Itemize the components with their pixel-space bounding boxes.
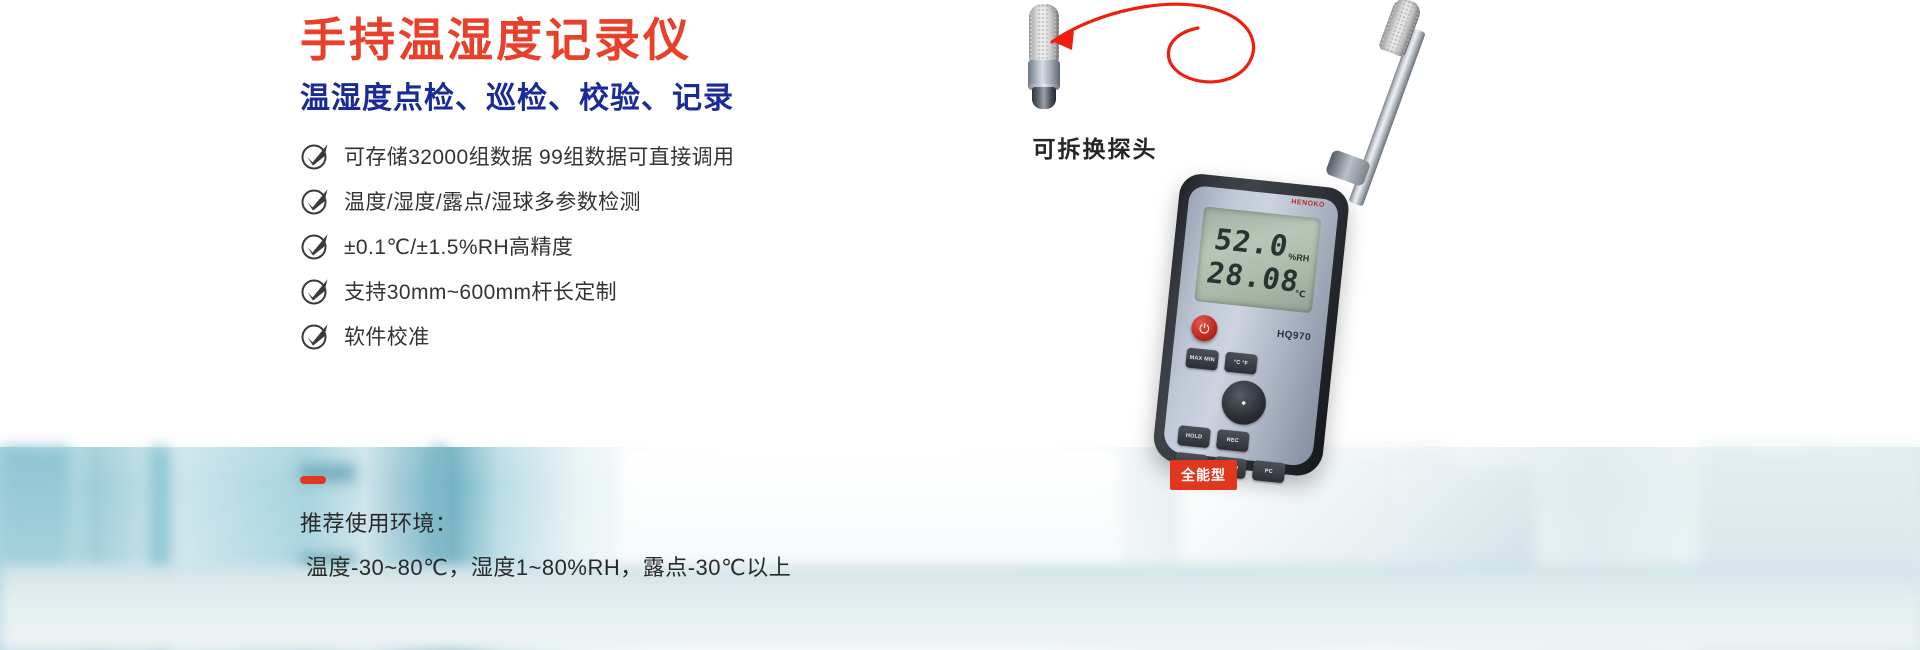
recommendation-block: 推荐使用环境： 温度-30~80℃，湿度1~80%RH，露点-30℃以上 — [300, 476, 1200, 582]
feature-text: 支持30mm~600mm杆长定制 — [344, 276, 617, 306]
key-pc[interactable]: PC — [1252, 460, 1286, 483]
meter-front-panel: 52.0 %RH 28.08 ℃ HENOKO ⏻ HQ970 MAX MIN … — [1162, 185, 1339, 467]
meter-body: 52.0 %RH 28.08 ℃ HENOKO ⏻ HQ970 MAX MIN … — [1151, 172, 1350, 478]
power-button[interactable]: ⏻ — [1190, 314, 1219, 343]
check-circle-icon — [300, 141, 330, 171]
key-max-min[interactable]: MAX MIN — [1185, 347, 1219, 370]
key-rec[interactable]: REC — [1216, 429, 1250, 452]
brand-logo: HENOKO — [1291, 199, 1325, 209]
humidity-unit: %RH — [1288, 252, 1310, 264]
feature-text: ±0.1℃/±1.5%RH高精度 — [344, 231, 573, 261]
key-hold[interactable]: HOLD — [1177, 425, 1211, 448]
page-subtitle: 温湿度点检、巡检、校验、记录 — [300, 80, 734, 118]
check-circle-icon — [300, 231, 330, 261]
feature-text: 软件校准 — [344, 321, 430, 351]
status-badge: 全能型 — [1170, 460, 1237, 490]
product-banner: 手持温湿度记录仪 温湿度点检、巡检、校验、记录 可存储32000组数据 99组数… — [0, 0, 1920, 650]
recommendation-detail: 温度-30~80℃，湿度1~80%RH，露点-30℃以上 — [300, 550, 1200, 582]
keypad-row: ◆ — [1180, 374, 1308, 431]
key-unit[interactable]: °C °F — [1224, 352, 1258, 375]
model-label: HQ970 — [1276, 329, 1311, 344]
temperature-reading: 28.08 — [1204, 255, 1302, 298]
feature-text: 可存储32000组数据 99组数据可直接调用 — [344, 141, 734, 171]
check-circle-icon — [300, 186, 330, 216]
navigation-dpad[interactable]: ◆ — [1220, 378, 1268, 426]
feature-text: 温度/湿度/露点/湿球多参数检测 — [344, 186, 641, 216]
check-circle-icon — [300, 321, 330, 351]
recommendation-heading: 推荐使用环境： — [300, 506, 1200, 538]
check-circle-icon — [300, 276, 330, 306]
lcd-display: 52.0 %RH 28.08 ℃ — [1194, 206, 1321, 313]
page-title: 手持温湿度记录仪 — [300, 11, 692, 69]
red-dash-divider — [300, 476, 326, 484]
temperature-unit: ℃ — [1294, 288, 1306, 300]
